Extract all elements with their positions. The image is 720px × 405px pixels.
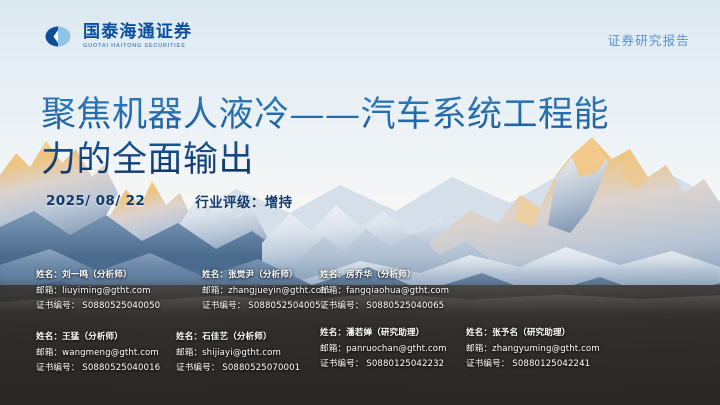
- analyst-email[interactable]: 邮箱：liuyiming@gtht.com: [36, 284, 160, 300]
- analyst-cert: 证书编号： S0880525040050: [36, 299, 160, 315]
- analyst-block: 姓名：刘一鸣（分析师） 邮箱：liuyiming@gtht.com 证书编号： …: [36, 268, 160, 315]
- analyst-email[interactable]: 邮箱：shijiayi@gtht.com: [176, 346, 300, 362]
- analyst-name: 姓名：张予名（研究助理）: [466, 326, 600, 342]
- analyst-block: 姓名：张予名（研究助理） 邮箱：zhangyuming@gtht.com 证书编…: [466, 326, 600, 373]
- analyst-email[interactable]: 邮箱：zhangjueyin@gtht.com: [202, 284, 330, 300]
- analyst-name: 姓名：房乔华（分析师）: [320, 268, 449, 284]
- analyst-block: 姓名：张觉尹（分析师） 邮箱：zhangjueyin@gtht.com 证书编号…: [202, 268, 330, 315]
- report-type-label: 证券研究报告: [608, 30, 690, 49]
- page-title: 聚焦机器人液冷——汽车系统工程能力的全面输出: [41, 93, 641, 183]
- brand-logo: 国泰海通证券 GUOTAI HAITONG SECURITIES: [44, 24, 192, 50]
- analyst-email[interactable]: 邮箱：fangqiaohua@gtht.com: [320, 284, 449, 300]
- industry-rating: 行业评级：增持: [195, 191, 292, 211]
- analyst-cert: 证书编号： S0880125042241: [466, 357, 600, 373]
- analyst-name: 姓名：张觉尹（分析师）: [202, 268, 330, 284]
- analyst-name: 姓名：刘一鸣（分析师）: [36, 268, 160, 284]
- analyst-name: 姓名：潘若婵（研究助理）: [320, 326, 447, 342]
- analyst-block: 姓名：潘若婵（研究助理） 邮箱：panruochan@gtht.com 证书编号…: [320, 326, 447, 373]
- analyst-row-2: 姓名：王猛（分析师） 邮箱：wangmeng@gtht.com 证书编号： S0…: [0, 330, 720, 388]
- logo-english-name: GUOTAI HAITONG SECURITIES: [83, 44, 192, 50]
- analyst-email[interactable]: 邮箱：panruochan@gtht.com: [320, 342, 447, 358]
- logo-chinese-name: 国泰海通证券: [83, 24, 192, 41]
- analyst-name: 姓名：石佳艺（分析师）: [176, 330, 300, 346]
- analyst-cert: 证书编号： S0880125042232: [320, 357, 447, 373]
- circle-lens-logo-icon: [44, 25, 74, 48]
- analyst-cert: 证书编号： S0880525070001: [176, 361, 300, 377]
- analyst-name: 姓名：王猛（分析师）: [36, 330, 160, 346]
- analyst-row-1: 姓名：刘一鸣（分析师） 邮箱：liuyiming@gtht.com 证书编号： …: [0, 268, 720, 326]
- analyst-block: 姓名：房乔华（分析师） 邮箱：fangqiaohua@gtht.com 证书编号…: [320, 268, 449, 315]
- meta-row: 2025/ 08/ 22 行业评级：增持: [46, 191, 293, 211]
- analyst-email[interactable]: 邮箱：wangmeng@gtht.com: [36, 346, 160, 362]
- analyst-block: 姓名：石佳艺（分析师） 邮箱：shijiayi@gtht.com 证书编号： S…: [176, 330, 300, 377]
- analyst-cert: 证书编号： S0880525040065: [320, 299, 449, 315]
- report-cover: 国泰海通证券 GUOTAI HAITONG SECURITIES 证券研究报告 …: [0, 0, 720, 405]
- analyst-cert: 证书编号： S0880525040016: [36, 361, 160, 377]
- analyst-info-section: 姓名：刘一鸣（分析师） 邮箱：liuyiming@gtht.com 证书编号： …: [0, 268, 720, 388]
- analyst-email[interactable]: 邮箱：zhangyuming@gtht.com: [466, 342, 600, 358]
- analyst-block: 姓名：王猛（分析师） 邮箱：wangmeng@gtht.com 证书编号： S0…: [36, 330, 160, 377]
- analyst-cert: 证书编号： S0880525040057: [202, 299, 330, 315]
- publish-date: 2025/ 08/ 22: [46, 193, 145, 209]
